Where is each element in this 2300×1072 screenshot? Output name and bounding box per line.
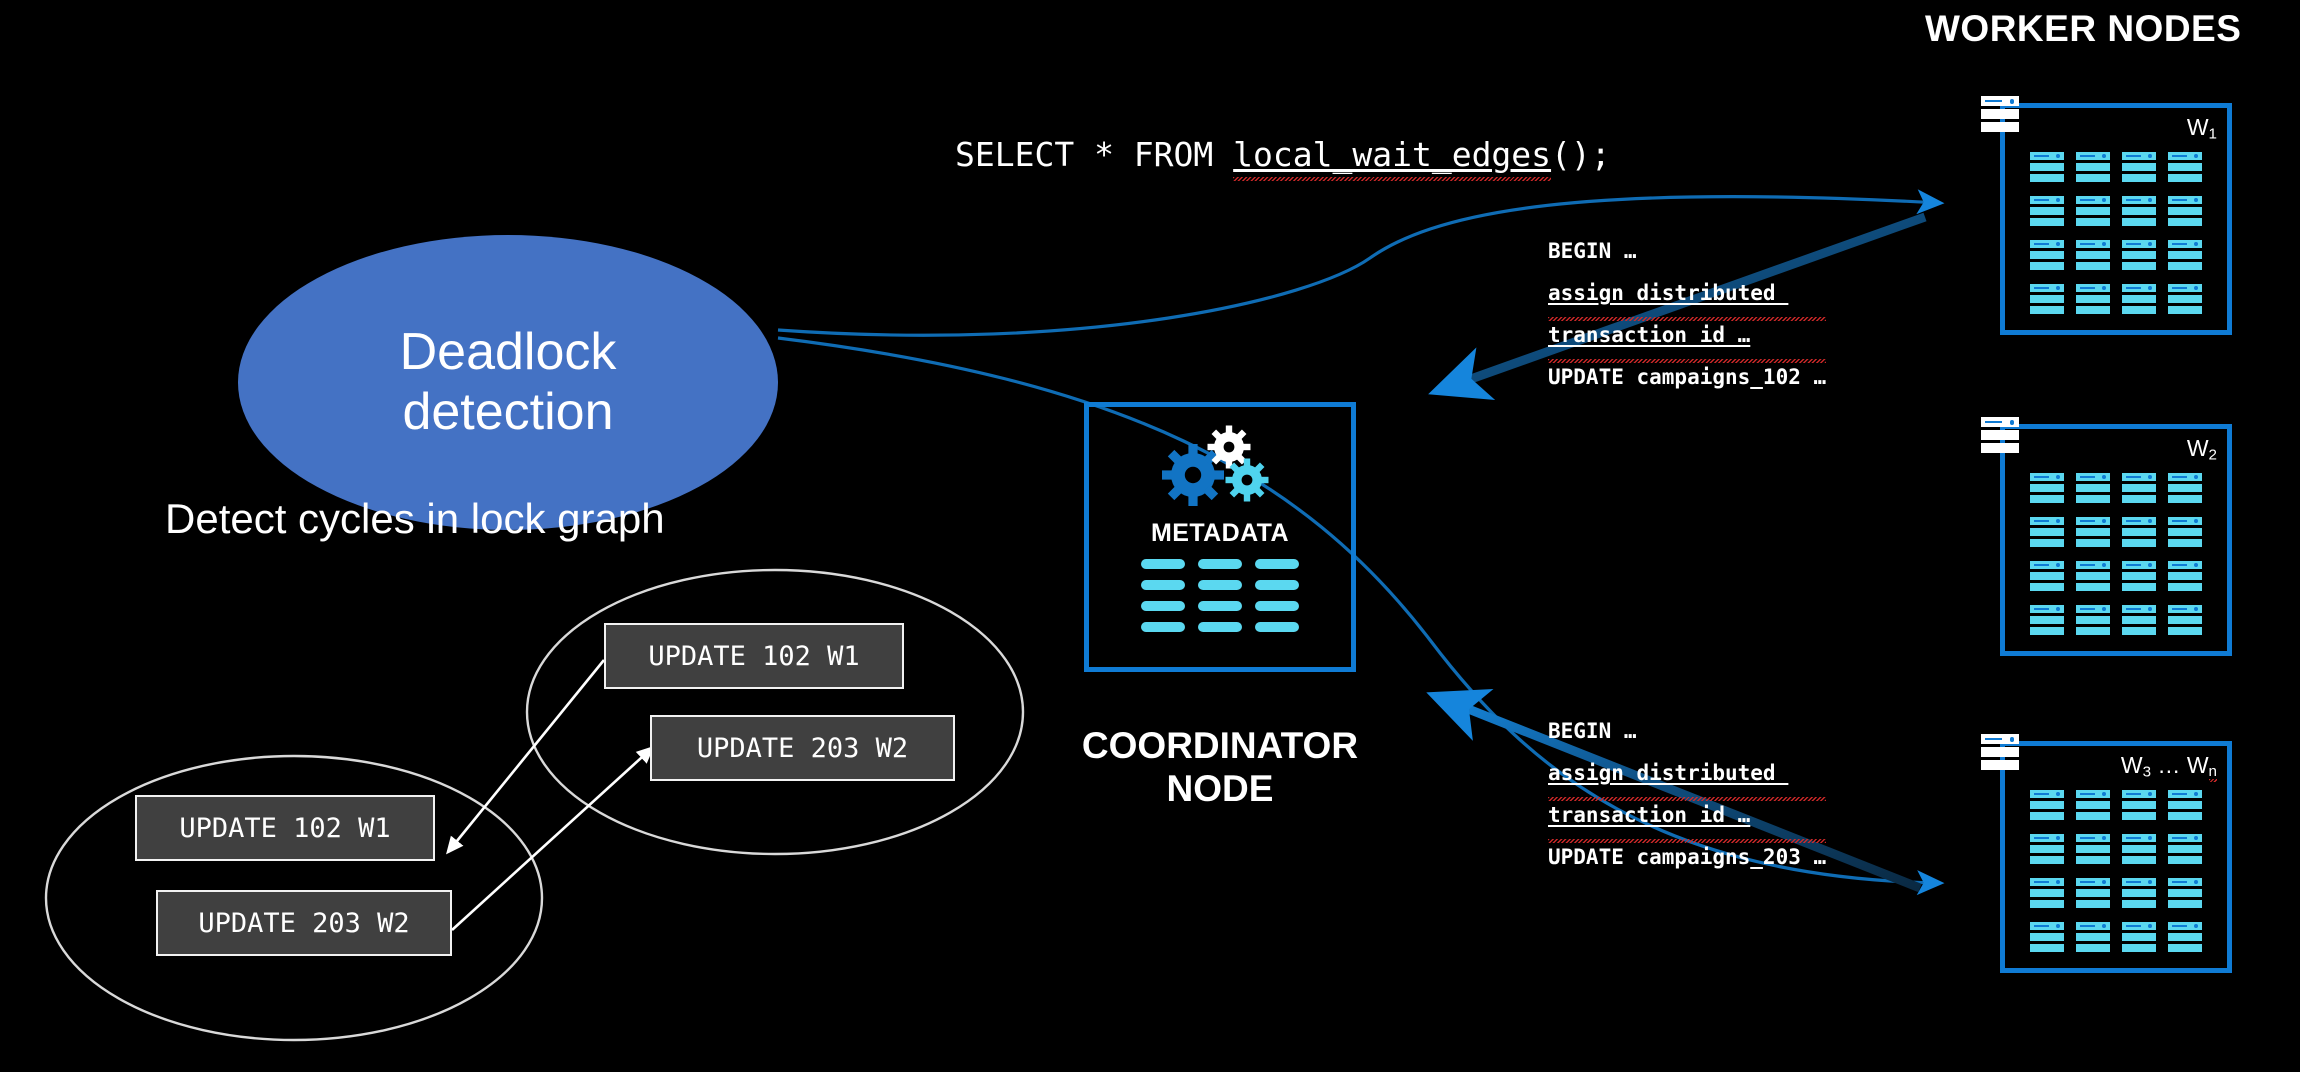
worker-3-server-grid [2030,790,2202,952]
metadata-bar [1255,580,1299,590]
server-unit-icon [2030,152,2064,182]
server-unit-icon [2168,922,2202,952]
wait-edge-arrow-up [452,748,652,930]
metadata-bar [1255,559,1299,569]
worker-node-2-label: W2 [2187,435,2217,463]
server-unit-icon [2168,284,2202,314]
metadata-label: METADATA [1089,519,1351,548]
detect-cycles-caption: Detect cycles in lock graph [165,495,665,543]
server-unit-icon [2030,834,2064,864]
coordinator-node-box: METADATA [1084,402,1356,672]
server-unit-icon [2030,878,2064,908]
coordinator-heading-line2: NODE [1167,768,1274,809]
metadata-bar [1141,580,1185,590]
wait-edge-arrow-down [448,660,604,852]
server-unit-icon [2122,922,2156,952]
server-unit-icon [2168,605,2202,635]
worker-node-2: W2 [2000,424,2232,656]
transaction-snippet-203: BEGIN … assign_distributed_ transaction_… [1548,710,1826,878]
worker-nodes-heading: WORKER NODES [1925,8,2241,50]
worker-2-server-grid [2030,473,2202,635]
metadata-bar [1198,580,1242,590]
server-unit-icon [2030,240,2064,270]
lock-box-left-update-203: UPDATE 203 W2 [156,890,452,956]
txn1-line-2: transaction_id … [1548,314,1826,356]
worker-3-label-sub: 3 [2143,763,2151,780]
lock-box-right-update-203: UPDATE 203 W2 [650,715,955,781]
server-unit-icon [2030,605,2064,635]
server-unit-icon [2168,152,2202,182]
server-unit-icon [2030,790,2064,820]
sql-function-name: local_wait_edges [1233,135,1551,174]
metadata-bar [1255,601,1299,611]
server-unit-icon [2168,878,2202,908]
txn2-line-2: transaction_id … [1548,794,1826,836]
transaction-snippet-102: BEGIN … assign_distributed_ transaction_… [1548,230,1826,398]
metadata-bar [1198,559,1242,569]
server-unit-icon [2122,240,2156,270]
server-unit-icon [2076,790,2110,820]
worker-1-label-sub: 1 [2209,125,2217,142]
deadlock-label-line1: Deadlock [400,323,617,381]
server-unit-icon [2122,561,2156,591]
metadata-bar [1198,601,1242,611]
server-unit-icon [2076,605,2110,635]
server-unit-icon [2122,284,2156,314]
server-unit-icon [2030,196,2064,226]
server-unit-icon [2076,152,2110,182]
server-unit-icon [2122,878,2156,908]
server-unit-icon [2030,561,2064,591]
metadata-bar [1198,622,1242,632]
txn1-line-0: BEGIN … [1548,230,1826,272]
server-unit-icon [2122,834,2156,864]
server-unit-icon [2122,517,2156,547]
server-unit-icon [2076,922,2110,952]
worker-node-1: W1 [2000,103,2232,335]
lock-box-right-update-102: UPDATE 102 W1 [604,623,904,689]
server-unit-icon [2030,473,2064,503]
server-unit-icon [2122,473,2156,503]
worker-1-server-grid [2030,152,2202,314]
server-unit-icon [2076,561,2110,591]
server-unit-icon [2076,240,2110,270]
server-unit-icon [2030,517,2064,547]
worker-2-label-main: W [2187,435,2209,461]
server-unit-icon [2030,284,2064,314]
server-unit-icon [2168,790,2202,820]
server-unit-icon [2076,473,2110,503]
deadlock-label-line2: detection [402,383,613,441]
diagram-canvas: WORKER NODES COORDINATOR NODE SELECT * F… [0,0,2300,1072]
metadata-bar [1141,622,1185,632]
worker-1-label-main: W [2187,114,2209,140]
server-unit-icon [2168,196,2202,226]
worker-3-label-main: W [2121,752,2143,778]
worker-node-3-label: W3 … Wn [2121,752,2217,780]
worker-node-3: W3 … Wn [2000,741,2232,973]
server-unit-icon [2168,517,2202,547]
server-unit-icon [2168,834,2202,864]
deadlock-detection-label: Deadlock detection [400,323,617,443]
sql-statement: SELECT * FROM local_wait_edges(); [955,135,1611,174]
server-unit-icon [2076,196,2110,226]
deadlock-detection-node: Deadlock detection [238,235,778,530]
lock-box-left-update-102: UPDATE 102 W1 [135,795,435,861]
sql-suffix: (); [1551,135,1611,174]
coordinator-heading-line1: COORDINATOR [1082,725,1358,766]
metadata-record-grid [1141,559,1299,632]
server-unit-icon [2168,240,2202,270]
metadata-bar [1141,559,1185,569]
server-unit-icon [2122,196,2156,226]
coordinator-node-heading: COORDINATOR NODE [1055,725,1385,810]
metadata-bar [1141,601,1185,611]
server-unit-icon [2168,473,2202,503]
lock-cycle-ellipse-right [527,570,1023,854]
server-unit-icon [2122,152,2156,182]
txn2-line-1: assign_distributed_ [1548,752,1826,794]
server-tab-icon [1981,96,2019,132]
server-unit-icon [2076,284,2110,314]
worker-node-1-label: W1 [2187,114,2217,142]
server-unit-icon [2168,561,2202,591]
server-tab-icon [1981,417,2019,453]
server-unit-icon [2122,605,2156,635]
txn2-line-0: BEGIN … [1548,710,1826,752]
server-unit-icon [2122,790,2156,820]
worker-3-label-tail-sub: n [2209,763,2217,780]
worker-2-label-sub: 2 [2209,446,2217,463]
server-tab-icon [1981,734,2019,770]
server-unit-icon [2076,834,2110,864]
txn1-line-1: assign_distributed_ [1548,272,1826,314]
sql-prefix: SELECT * FROM [955,135,1233,174]
server-unit-icon [2076,878,2110,908]
metadata-bar [1255,622,1299,632]
gears-icon [1145,423,1295,513]
worker-3-label-tail: … W [2151,752,2209,778]
server-unit-icon [2076,517,2110,547]
server-unit-icon [2030,922,2064,952]
